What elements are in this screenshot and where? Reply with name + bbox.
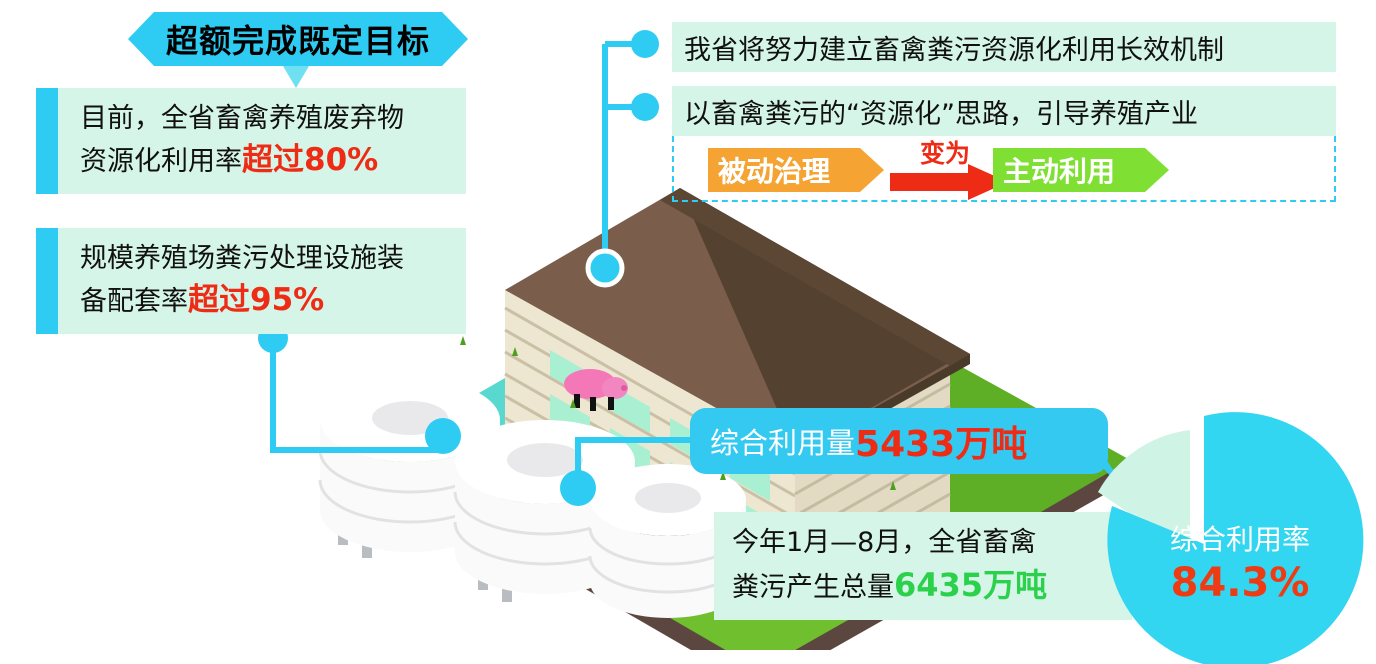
becomes-arrow-icon: [890, 162, 1010, 202]
fact-box-2-text: 规模养殖场粪污处理设施装 备配套率超过95%: [36, 239, 418, 323]
usage-volume-badge: 综合利用量 5433万吨: [690, 408, 1108, 474]
page-title-banner: 超额完成既定目标: [128, 12, 468, 66]
fact-box-2: 规模养殖场粪污处理设施装 备配套率超过95%: [36, 228, 466, 334]
bottom-fact-box: 今年1月—8月，全省畜禽 粪污产生总量6435万吨: [714, 512, 1132, 620]
fact-box-1: 目前，全省畜禽养殖废弃物 资源化利用率超过80%: [36, 88, 466, 194]
right-fact-1-text: 我省将努力建立畜禽粪污资源化利用长效机制: [672, 28, 1224, 67]
fact-box-2-accent-bar: [36, 228, 58, 334]
infographic-canvas: 超额完成既定目标 目前，全省畜禽养殖废弃物 资源化利用率超过80% 规模养殖场粪…: [0, 0, 1376, 664]
bottom-fact-line1: 今年1月—8月，全省畜禽: [732, 527, 1036, 558]
tag-passive-governance: 被动治理: [708, 148, 884, 192]
tag-passive-label: 被动治理: [708, 150, 830, 190]
bottom-fact-line2: 粪污产生总量: [732, 572, 894, 603]
fact-box-1-line1: 目前，全省畜禽养殖废弃物: [80, 103, 404, 134]
fact-box-1-highlight: 超过80%: [242, 142, 378, 178]
fact-box-2-line2: 备配套率: [80, 286, 188, 317]
bottom-fact-text: 今年1月—8月，全省畜禽 粪污产生总量6435万吨: [714, 523, 1047, 609]
right-fact-2-text: 以畜禽粪污的“资源化”思路，引导养殖产业: [672, 92, 1198, 131]
right-fact-box-2: 以畜禽粪污的“资源化”思路，引导养殖产业: [672, 86, 1336, 136]
usage-volume-label: 综合利用量: [690, 420, 855, 462]
page-title: 超额完成既定目标: [166, 16, 430, 62]
connector-dot-right-1: [631, 30, 659, 58]
tag-active-utilization: 主动利用: [993, 148, 1169, 192]
pie-label-value: 84.3%: [1150, 560, 1330, 606]
fact-box-2-line1: 规模养殖场粪污处理设施装: [80, 243, 404, 274]
pie-center-label: 综合利用率 84.3%: [1150, 518, 1330, 606]
right-fact-box-1: 我省将努力建立畜禽粪污资源化利用长效机制: [672, 22, 1336, 72]
fact-box-1-accent-bar: [36, 88, 58, 194]
pie-label-text: 综合利用率: [1150, 518, 1330, 558]
bottom-fact-highlight: 6435万吨: [894, 566, 1047, 604]
title-pointer-icon: [283, 66, 309, 88]
usage-volume-value: 5433万吨: [855, 415, 1027, 467]
fact-box-1-line2: 资源化利用率: [80, 146, 242, 177]
tag-active-label: 主动利用: [993, 150, 1115, 190]
fact-box-2-highlight: 超过95%: [188, 282, 324, 318]
connector-dot-right-2: [631, 93, 659, 121]
fact-box-1-text: 目前，全省畜禽养殖废弃物 资源化利用率超过80%: [36, 99, 418, 183]
